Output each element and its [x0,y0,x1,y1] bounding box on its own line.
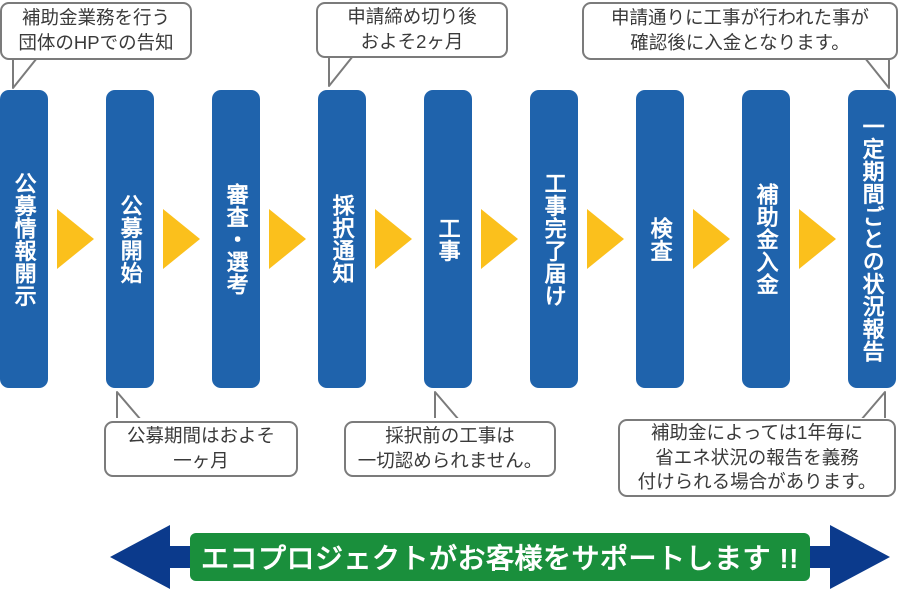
callout-payment-after-check: 申請通りに工事が行われた事が 確認後に入金となります。 [582,2,898,60]
step-label: 補助金入金 [754,183,777,296]
step-box-subsidy-payment[interactable]: 補助金入金 [742,90,790,388]
callout-two-months: 申請締め切り後 およそ2ヶ月 [316,2,508,58]
callout-line: 省エネ状況の報告を義務 [655,446,859,471]
step-label: 公募開始 [118,194,141,284]
flow-arrow-8 [799,209,836,269]
callout-line: 補助金業務を行う [22,6,170,31]
support-banner: エコプロジェクトがお客様をサポートします !! [190,533,810,581]
callout-line: 申請締め切り後 [347,5,477,30]
step-box-construction-completion-report[interactable]: 工事完了届け [530,90,578,388]
callout-line: 付けられる場合があります。 [638,470,877,495]
step-label: 一定期間ごとの状況報告 [860,115,883,363]
callout-line: 一ヶ月 [173,449,229,474]
step-label: 公募情報開示 [12,172,35,307]
flow-arrow-1 [57,209,94,269]
flow-arrow-4 [375,209,412,269]
callout-line: 確認後に入金となります。 [630,31,850,56]
step-label: 検査 [648,217,671,262]
callout-line: およそ2ヶ月 [361,30,464,55]
flow-arrow-6 [587,209,624,269]
step-box-application-open[interactable]: 公募開始 [106,90,154,388]
callout-annual-report: 補助金によっては1年毎に 省エネ状況の報告を義務 付けられる場合があります。 [618,419,896,497]
support-banner-text: エコプロジェクトがお客様をサポートします !! [201,537,799,577]
step-box-public-info-disclosure[interactable]: 公募情報開示 [0,90,48,388]
step-box-review-selection[interactable]: 審査・選考 [212,90,260,388]
callout-no-work-before-approval: 採択前の工事は 一切認められません。 [344,421,556,477]
step-label: 採択通知 [330,194,353,284]
step-label: 工事 [436,217,459,262]
step-box-periodic-status-report[interactable]: 一定期間ごとの状況報告 [848,90,896,388]
flow-arrow-2 [163,209,200,269]
step-label: 工事完了届け [542,172,565,307]
callout-application-period: 公募期間はおよそ 一ヶ月 [104,421,298,477]
step-box-approval-notice[interactable]: 採択通知 [318,90,366,388]
flow-arrow-5 [481,209,518,269]
callout-line: 採択前の工事は [385,424,515,449]
callout-line: 一切認められません。 [358,449,542,474]
callout-line: 補助金によっては1年毎に [651,421,863,446]
step-box-inspection[interactable]: 検査 [636,90,684,388]
callout-public-notice: 補助金業務を行う 団体のHPでの告知 [0,2,192,60]
callout-line: 団体のHPでの告知 [18,31,173,56]
callout-line: 公募期間はおよそ [127,424,275,449]
step-label: 審査・選考 [224,183,247,296]
flow-arrow-7 [693,209,730,269]
callout-line: 申請通りに工事が行われた事が [611,6,869,31]
flow-arrow-3 [269,209,306,269]
diagram-canvas: 補助金業務を行う 団体のHPでの告知 申請締め切り後 およそ2ヶ月 申請通りに工… [0,0,900,600]
step-box-construction[interactable]: 工事 [424,90,472,388]
